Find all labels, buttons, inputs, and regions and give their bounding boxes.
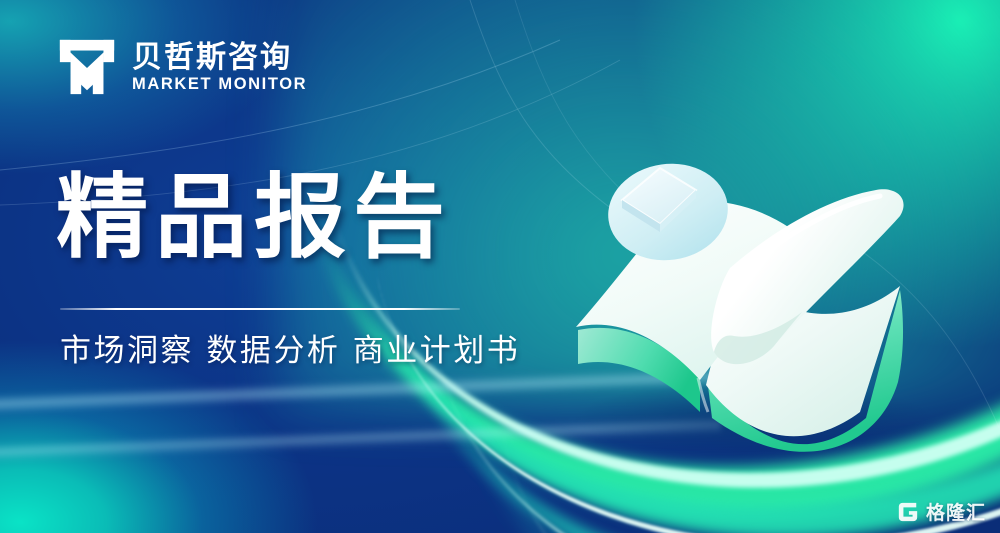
page-subtitle: 市场洞察 数据分析 商业计划书 [60,331,520,373]
page-title: 精品报告 [56,168,452,267]
brand-logo[interactable]: 贝哲斯咨询 MARKET MONITOR [56,36,307,98]
watermark: 格隆汇 [897,498,986,525]
brand-name-en: MARKET MONITOR [132,76,307,93]
market-monitor-m-mark-icon [56,36,118,98]
report-cover-banner: 贝哲斯咨询 MARKET MONITOR 精品报告 市场洞察 数据分析 商业计划… [0,0,1000,533]
watermark-text: 格隆汇 [926,498,986,525]
title-divider [60,308,460,310]
brand-logo-text: 贝哲斯咨询 MARKET MONITOR [132,42,307,93]
brand-name-cn: 贝哲斯咨询 [132,42,307,74]
gelonghui-g-icon [897,501,919,523]
